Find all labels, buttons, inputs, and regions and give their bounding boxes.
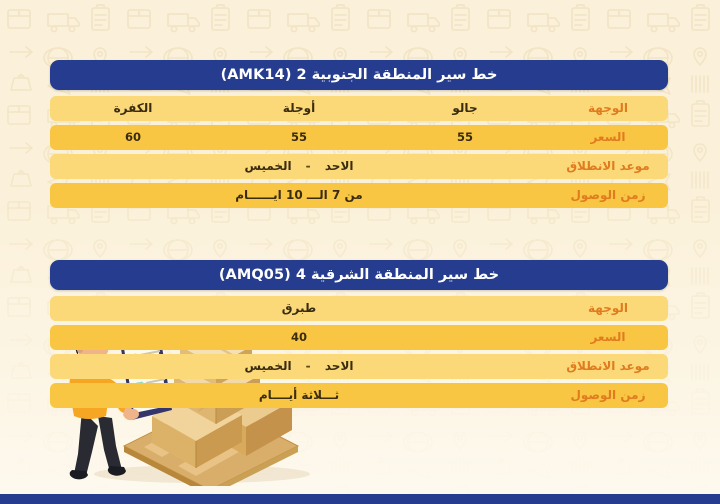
table-row-price: السعر 40 (50, 325, 668, 350)
row-values-price: 55 55 60 (50, 125, 548, 150)
bottom-accent-bar (0, 494, 720, 504)
row-label-destination: الوجهة (548, 296, 668, 321)
cell-destination-3: الكفرة (50, 96, 216, 121)
departure-day-end: الخميس (244, 159, 291, 173)
row-label-price: السعر (548, 325, 668, 350)
cell-price-2: 55 (216, 125, 382, 150)
route-card-eastern-4: خط سير المنطقة الشرقية 4 (AMQ05) الوجهة … (50, 260, 668, 412)
row-label-price: السعر (548, 125, 668, 150)
route-title-eastern-4: خط سير المنطقة الشرقية 4 (AMQ05) (50, 260, 668, 290)
row-label-departure: موعد الانطلاق (548, 154, 668, 179)
row-label-arrival: زمن الوصول (548, 383, 668, 408)
table-row-price: السعر 55 55 60 (50, 125, 668, 150)
departure-separator: - (292, 354, 325, 379)
route-title-southern-2: خط سير المنطقة الجنوبية 2 (AMK14) (50, 60, 668, 90)
route-card-southern-2: خط سير المنطقة الجنوبية 2 (AMK14) الوجهة… (50, 60, 668, 212)
row-label-departure: موعد الانطلاق (548, 354, 668, 379)
row-values-destination: جالو أوجلة الكفرة (50, 96, 548, 121)
cell-price-3: 60 (50, 125, 216, 150)
table-row-arrival: زمن الوصول ثـــلاثة أيــــام (50, 383, 668, 408)
row-values-arrival: ثـــلاثة أيــــام (50, 383, 548, 408)
departure-separator: - (292, 154, 325, 179)
table-row-destination: الوجهة جالو أوجلة الكفرة (50, 96, 668, 121)
row-values-departure: الاحد-الخميس (50, 354, 548, 379)
table-row-destination: الوجهة طبرق (50, 296, 668, 321)
row-values-departure: الاحد-الخميس (50, 154, 548, 179)
row-values-destination: طبرق (50, 296, 548, 321)
row-label-destination: الوجهة (548, 96, 668, 121)
row-values-arrival: من 7 الـــ 10 ايــــــام (50, 183, 548, 208)
table-row-arrival: زمن الوصول من 7 الـــ 10 ايــــــام (50, 183, 668, 208)
cell-arrival-duration: من 7 الـــ 10 ايــــــام (50, 183, 548, 208)
cell-departure-days: الاحد-الخميس (50, 154, 548, 179)
route-rows-eastern-4: الوجهة طبرق السعر 40 موعد الانطلاق الاحد… (50, 296, 668, 408)
route-rows-southern-2: الوجهة جالو أوجلة الكفرة السعر 55 55 60 … (50, 96, 668, 208)
cell-arrival-duration: ثـــلاثة أيــــام (50, 383, 548, 408)
table-row-departure: موعد الانطلاق الاحد-الخميس (50, 154, 668, 179)
departure-day-start: الاحد (325, 159, 354, 173)
cell-price-1: 40 (50, 325, 548, 350)
departure-day-end: الخميس (244, 359, 291, 373)
cell-departure-days: الاحد-الخميس (50, 354, 548, 379)
cell-destination-2: أوجلة (216, 96, 382, 121)
departure-day-start: الاحد (325, 359, 354, 373)
cell-destination-1: جالو (382, 96, 548, 121)
row-label-arrival: زمن الوصول (548, 183, 668, 208)
cell-price-1: 55 (382, 125, 548, 150)
schedule-poster: خط سير المنطقة الجنوبية 2 (AMK14) الوجهة… (0, 0, 720, 504)
row-values-price: 40 (50, 325, 548, 350)
table-row-departure: موعد الانطلاق الاحد-الخميس (50, 354, 668, 379)
cell-destination-1: طبرق (50, 296, 548, 321)
